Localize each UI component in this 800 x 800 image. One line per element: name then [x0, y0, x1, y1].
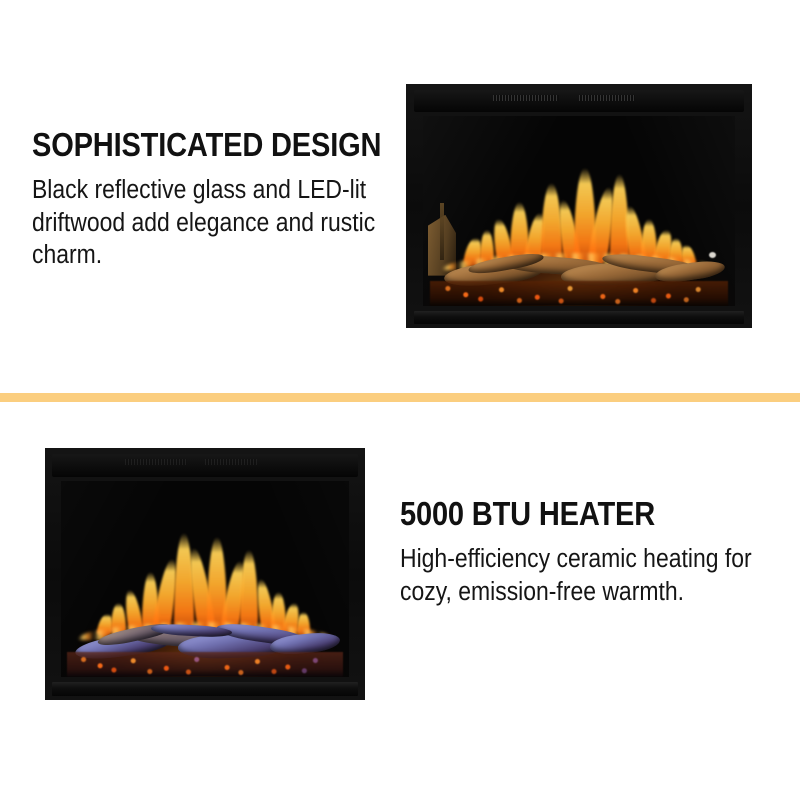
- section-divider: [0, 393, 800, 402]
- feature-2-copy-block: 5000 BTU HEATER High-efficiency ceramic …: [400, 497, 790, 608]
- ember-bed: [67, 652, 344, 678]
- fireplace-glass-panel: [423, 116, 734, 306]
- fireplace-glass-panel: [61, 481, 349, 678]
- feature-1-copy-block: SOPHISTICATED DESIGN Black reflective gl…: [32, 128, 392, 272]
- vent-grille-left-icon: [493, 95, 559, 101]
- feature-2-body: High-efficiency ceramic heating for cozy…: [400, 543, 789, 608]
- fireplace-bottom-sill: [414, 311, 745, 324]
- fireplace-top-vent-bar: [52, 454, 358, 477]
- ember-bed: [430, 281, 729, 306]
- led-driftwood-log-set: [70, 601, 341, 660]
- feature-2-headline: 5000 BTU HEATER: [400, 497, 743, 530]
- feature-1-body: Black reflective glass and LED-lit drift…: [32, 174, 388, 272]
- fireplace-top-vent-bar: [414, 90, 745, 112]
- vent-grille-right-icon: [205, 459, 257, 465]
- vent-grille-left-icon: [125, 459, 186, 465]
- fireplace-bottom-sill: [52, 682, 358, 696]
- feature-2-fireplace-image: [45, 448, 365, 700]
- feature-1-fireplace-image: [406, 84, 752, 328]
- feature-highlight-page: SOPHISTICATED DESIGN Black reflective gl…: [0, 0, 800, 800]
- vent-grille-right-icon: [579, 95, 635, 101]
- feature-1-headline: SOPHISTICATED DESIGN: [32, 128, 349, 161]
